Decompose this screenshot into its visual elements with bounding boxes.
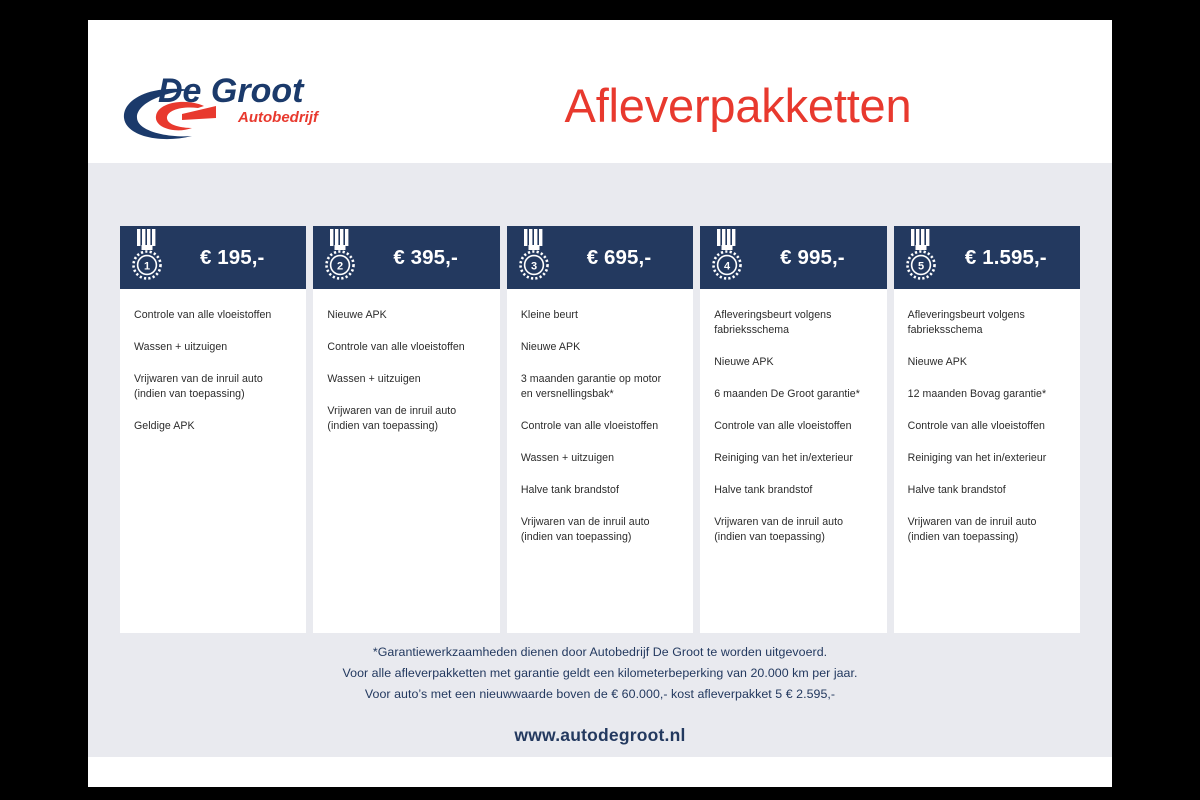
package-feature: 3 maanden garantie op motoren versnellin… [521,372,679,402]
package-feature: Nieuwe APK [908,355,1066,370]
page-title: Afleverpakketten [418,70,1058,142]
package-feature: Afleveringsbeurt volgensfabrieksschema [908,308,1066,338]
package-feature: Wassen + uitzuigen [521,451,679,466]
logo-wordmark: De Groot [158,72,305,110]
package-feature: Halve tank brandstof [521,483,679,498]
svg-text:2: 2 [337,261,343,273]
package-price: € 695,- [553,246,687,270]
package-feature: 6 maanden De Groot garantie* [714,387,872,402]
package-feature: 12 maanden Bovag garantie* [908,387,1066,402]
package-feature: Wassen + uitzuigen [327,372,485,387]
package-feature: Controle van alle vloeistoffen [908,419,1066,434]
package-cards: 1€ 195,-Controle van alle vloeistoffenWa… [120,226,1080,633]
medal-icon: 5 [902,229,940,284]
package-feature: Afleveringsbeurt volgensfabrieksschema [714,308,872,338]
svg-text:3: 3 [531,261,537,273]
footer-line: Voor alle afleverpakketten met garantie … [88,663,1112,684]
package-card[interactable]: 3€ 695,-Kleine beurtNieuwe APK3 maanden … [507,226,693,633]
medal-icon: 2 [321,229,359,284]
package-card-header: 2€ 395,- [313,226,499,289]
header-band: De Groot Autobedrijf Afleverpakketten [88,20,1112,163]
footer-line: *Garantiewerkzaamheden dienen door Autob… [88,642,1112,663]
package-feature: Halve tank brandstof [714,483,872,498]
package-feature: Vrijwaren van de inruil auto(indien van … [908,515,1066,545]
package-feature: Vrijwaren van de inruil auto(indien van … [134,372,292,402]
package-feature: Vrijwaren van de inruil auto(indien van … [521,515,679,545]
package-feature: Wassen + uitzuigen [134,340,292,355]
package-card-header: 4€ 995,- [700,226,886,289]
package-feature-list: Controle van alle vloeistoffenWassen + u… [120,289,306,633]
medal-icon: 3 [515,229,553,284]
package-feature-list: Afleveringsbeurt volgensfabrieksschemaNi… [894,289,1080,633]
package-feature: Geldige APK [134,419,292,434]
website-link[interactable]: www.autodegroot.nl [88,725,1112,746]
package-card-header: 5€ 1.595,- [894,226,1080,289]
package-feature: Vrijwaren van de inruil auto(indien van … [327,404,485,434]
bottom-strip [88,757,1112,787]
package-feature: Reiniging van het in/exterieur [714,451,872,466]
package-feature: Halve tank brandstof [908,483,1066,498]
package-price: € 395,- [359,246,493,270]
package-feature: Nieuwe APK [714,355,872,370]
package-card[interactable]: 5€ 1.595,-Afleveringsbeurt volgensfabrie… [894,226,1080,633]
package-price: € 195,- [166,246,300,270]
package-feature: Controle van alle vloeistoffen [521,419,679,434]
package-feature: Controle van alle vloeistoffen [134,308,292,323]
poster-stage: De Groot Autobedrijf Afleverpakketten 1€… [88,20,1112,787]
de-groot-logo: De Groot Autobedrijf [120,68,350,146]
logo-subtitle: Autobedrijf [237,109,320,126]
package-feature-list: Kleine beurtNieuwe APK3 maanden garantie… [507,289,693,633]
footer: *Garantiewerkzaamheden dienen door Autob… [88,642,1112,746]
package-feature-list: Afleveringsbeurt volgensfabrieksschemaNi… [700,289,886,633]
svg-text:1: 1 [144,261,150,273]
package-feature: Nieuwe APK [327,308,485,323]
footer-line: Voor auto’s met een nieuwwaarde boven de… [88,684,1112,705]
package-feature: Kleine beurt [521,308,679,323]
package-card[interactable]: 2€ 395,-Nieuwe APKControle van alle vloe… [313,226,499,633]
medal-icon: 1 [128,229,166,284]
package-card[interactable]: 1€ 195,-Controle van alle vloeistoffenWa… [120,226,306,633]
package-feature: Controle van alle vloeistoffen [327,340,485,355]
package-feature: Vrijwaren van de inruil auto(indien van … [714,515,872,545]
package-feature: Nieuwe APK [521,340,679,355]
medal-icon: 4 [708,229,746,284]
package-feature-list: Nieuwe APKControle van alle vloeistoffen… [313,289,499,633]
package-feature: Reiniging van het in/exterieur [908,451,1066,466]
package-price: € 1.595,- [940,246,1074,270]
package-card[interactable]: 4€ 995,-Afleveringsbeurt volgensfabrieks… [700,226,886,633]
svg-text:4: 4 [724,261,731,273]
package-price: € 995,- [746,246,880,270]
svg-text:5: 5 [918,261,924,273]
package-card-header: 1€ 195,- [120,226,306,289]
package-feature: Controle van alle vloeistoffen [714,419,872,434]
package-card-header: 3€ 695,- [507,226,693,289]
